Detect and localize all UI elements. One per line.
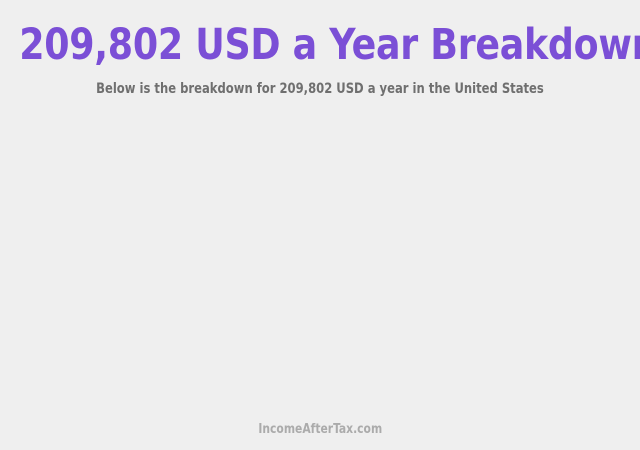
page-header: 209,802 USD a Year Breakdown Below is th… bbox=[0, 0, 640, 98]
page-footer: IncomeAfterTax.com bbox=[0, 420, 640, 438]
site-credit: IncomeAfterTax.com bbox=[258, 422, 382, 438]
breakdown-page: 209,802 USD a Year Breakdown Below is th… bbox=[0, 0, 640, 450]
page-subtitle: Below is the breakdown for 209,802 USD a… bbox=[26, 80, 615, 98]
page-title: 209,802 USD a Year Breakdown bbox=[19, 22, 621, 68]
breakdown-content-area bbox=[0, 118, 640, 400]
